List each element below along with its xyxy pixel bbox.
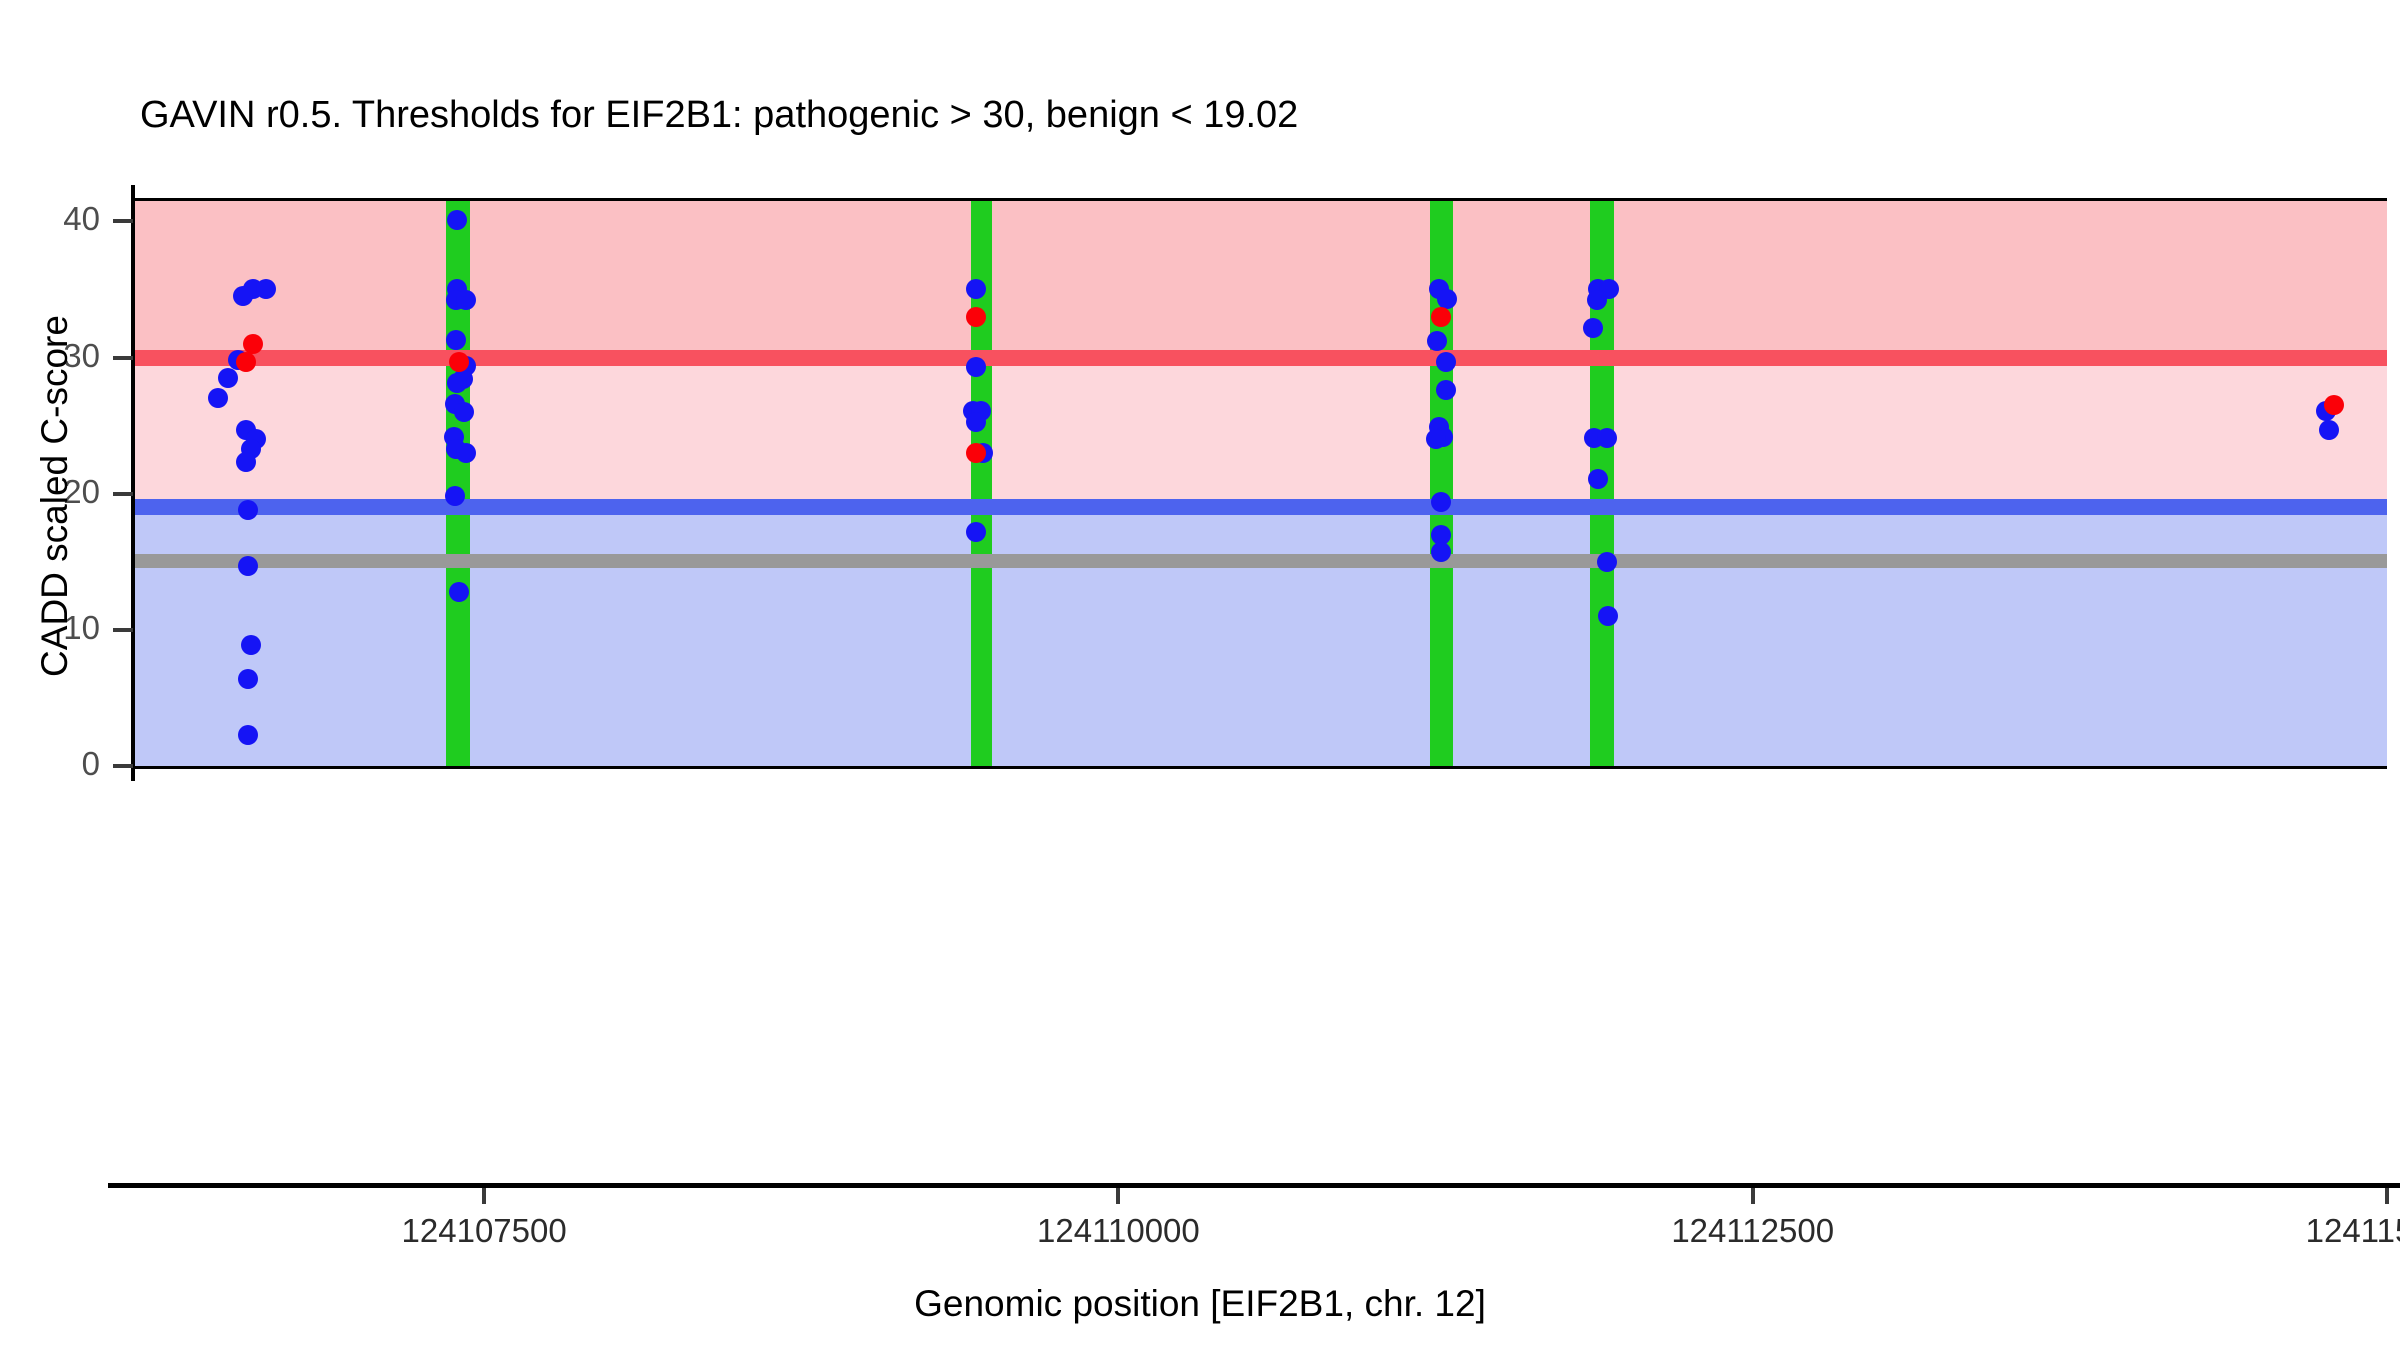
gnomad-variant-point — [241, 635, 261, 655]
gnomad-variant-point — [1588, 469, 1608, 489]
gnomad-variant-point — [1597, 428, 1617, 448]
gnomad-variant-point — [236, 452, 256, 472]
x-tick-label: 124115000 — [2287, 1212, 2400, 1250]
y-axis-title: CADD scaled C-score — [34, 196, 76, 796]
y-tick-mark — [113, 356, 133, 360]
gnomad-variant-point — [238, 725, 258, 745]
y-tick-mark — [113, 764, 133, 768]
y-axis-line — [131, 185, 135, 781]
gnomad-variant-point — [1587, 290, 1607, 310]
clinvar-pathogenic-point — [449, 352, 469, 372]
y-tick-mark — [113, 492, 133, 496]
gnomad-variant-point — [446, 330, 466, 350]
x-tick-label: 124110000 — [1018, 1212, 1218, 1250]
gnomad-variant-point — [2319, 420, 2339, 440]
plot-bottom-border — [134, 766, 2387, 769]
gnomad-variant-point — [1597, 552, 1617, 572]
gnomad-variant-point — [1436, 352, 1456, 372]
x-axis-title: Genomic position [EIF2B1, chr. 12] — [0, 1283, 2400, 1325]
gavin-variant-plot: GAVIN r0.5. Thresholds for EIF2B1: patho… — [0, 0, 2400, 1350]
title-line-1: GAVIN r0.5. Thresholds for EIF2B1: patho… — [140, 94, 2340, 137]
plot-top-border — [134, 198, 2387, 201]
gnomad-variant-point — [1431, 492, 1451, 512]
gnomad-variant-point — [238, 556, 258, 576]
x-axis-line — [108, 1183, 2400, 1188]
x-tick-label: 124112500 — [1653, 1212, 1853, 1250]
gnomad-variant-point — [218, 368, 238, 388]
clinvar-pathogenic-point — [2324, 395, 2344, 415]
gnomad-variant-point — [449, 582, 469, 602]
gnomad-variant-point — [208, 388, 228, 408]
y-tick-mark — [113, 628, 133, 632]
band-benign — [134, 507, 2387, 766]
gnomad-variant-point — [1431, 542, 1451, 562]
plot-canvas — [134, 201, 2387, 766]
gnomad-variant-point — [966, 412, 986, 432]
clinvar-pathogenic-point — [1431, 307, 1451, 327]
x-tick-mark — [1116, 1188, 1120, 1204]
x-tick-mark — [2385, 1188, 2389, 1204]
gnomad-variant-point — [238, 669, 258, 689]
clinvar-pathogenic-point — [236, 352, 256, 372]
gnomad-variant-point — [454, 402, 474, 422]
x-tick-label: 124107500 — [384, 1212, 584, 1250]
x-tick-mark — [1751, 1188, 1755, 1204]
x-tick-mark — [482, 1188, 486, 1204]
gnomad-variant-point — [1583, 318, 1603, 338]
gnomad-variant-point — [1427, 331, 1447, 351]
y-tick-mark — [113, 219, 133, 223]
gnomad-variant-point — [1436, 380, 1456, 400]
gnomad-variant-point — [1426, 429, 1446, 449]
band-pathogenic — [134, 201, 2387, 358]
fallback-threshold-line — [134, 554, 2387, 568]
benign-threshold-line — [134, 499, 2387, 515]
clinvar-pathogenic-point — [966, 307, 986, 327]
